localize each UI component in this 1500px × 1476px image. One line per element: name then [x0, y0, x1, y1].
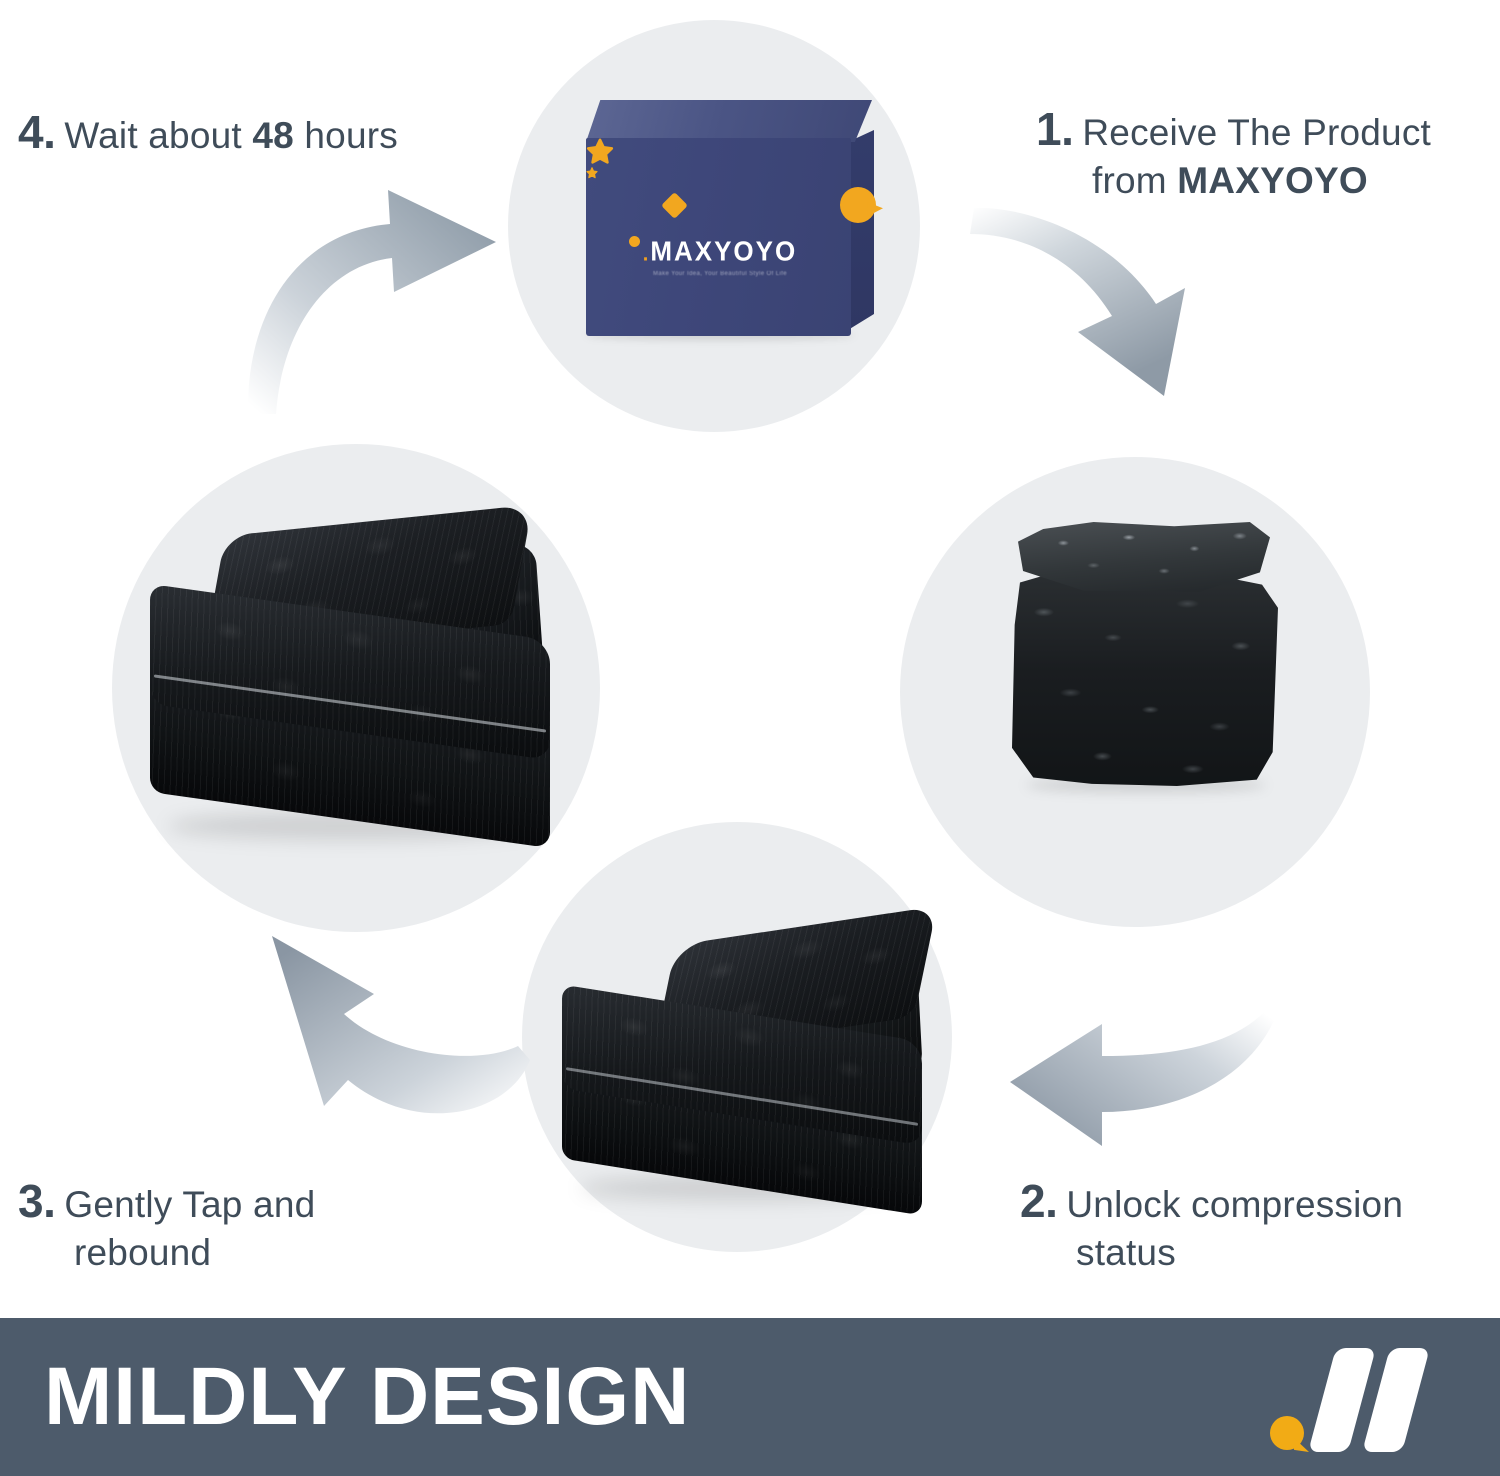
footer-banner: MILDLY DESIGN — [0, 1318, 1500, 1476]
box-logo-text: MAXYOYO — [650, 235, 797, 267]
arrow-step4-to-step1 — [240, 170, 500, 420]
infographic-canvas: .MAXYOYO Make Your Idea, Your Beautiful … — [0, 0, 1500, 1476]
sofa-partially-expanded-illustration — [562, 925, 952, 1215]
step-4-text-bold: 48 — [252, 115, 294, 156]
step-2-label: 2.Unlock compressionstatus — [1020, 1172, 1470, 1276]
box-front-panel: .MAXYOYO Make Your Idea, Your Beautiful … — [586, 138, 851, 336]
step-4-text-suffix: hours — [294, 115, 398, 156]
step-3-number: 3. — [18, 1175, 55, 1227]
diamond-icon — [661, 192, 688, 219]
step-4-text-prefix: Wait about — [64, 115, 252, 156]
logo-stroke-right-icon — [1362, 1348, 1430, 1452]
step-1-label: 1.Receive The Productfrom MAXYOYO — [1036, 100, 1466, 204]
step-2-line2: status — [1020, 1229, 1470, 1276]
footer-title: MILDLY DESIGN — [44, 1356, 690, 1438]
box-side-panel — [848, 130, 874, 330]
product-box-illustration: .MAXYOYO Make Your Idea, Your Beautiful … — [572, 100, 892, 360]
step-1-line2: from MAXYOYO — [1036, 157, 1466, 204]
step-1-number: 1. — [1036, 103, 1073, 155]
logo-orange-dot-icon — [1270, 1416, 1304, 1450]
step-1-line2-prefix: from — [1092, 160, 1177, 201]
arrow-step3-to-step4 — [240, 930, 570, 1150]
step-2-number: 2. — [1020, 1175, 1057, 1227]
box-tagline: Make Your Idea, Your Beautiful Style Of … — [616, 271, 824, 277]
arrow-step2-to-step3 — [950, 1000, 1280, 1200]
small-star-icon — [586, 166, 598, 178]
star-icon — [586, 138, 614, 166]
box-brand-logo: .MAXYOYO — [616, 235, 824, 268]
step-1-line1: Receive The Product — [1082, 112, 1431, 153]
sofa-fully-expanded-illustration — [150, 520, 590, 860]
block-body — [1012, 574, 1278, 786]
step-3-line2: rebound — [18, 1229, 408, 1276]
step-3-label: 3.Gently Tap andrebound — [18, 1172, 408, 1276]
step-1-line2-bold: MAXYOYO — [1177, 160, 1368, 201]
step-4-label: 4.Wait about 48 hours — [18, 103, 488, 162]
step-4-number: 4. — [18, 106, 55, 158]
maxyoyo-logo-mark — [1236, 1332, 1466, 1462]
box-top-panel — [586, 100, 872, 142]
arrow-step1-to-step2 — [960, 200, 1360, 440]
step-2-line1: Unlock compression — [1066, 1184, 1403, 1225]
step-3-line1: Gently Tap and — [64, 1184, 315, 1225]
compressed-foam-block-illustration — [1012, 522, 1278, 792]
